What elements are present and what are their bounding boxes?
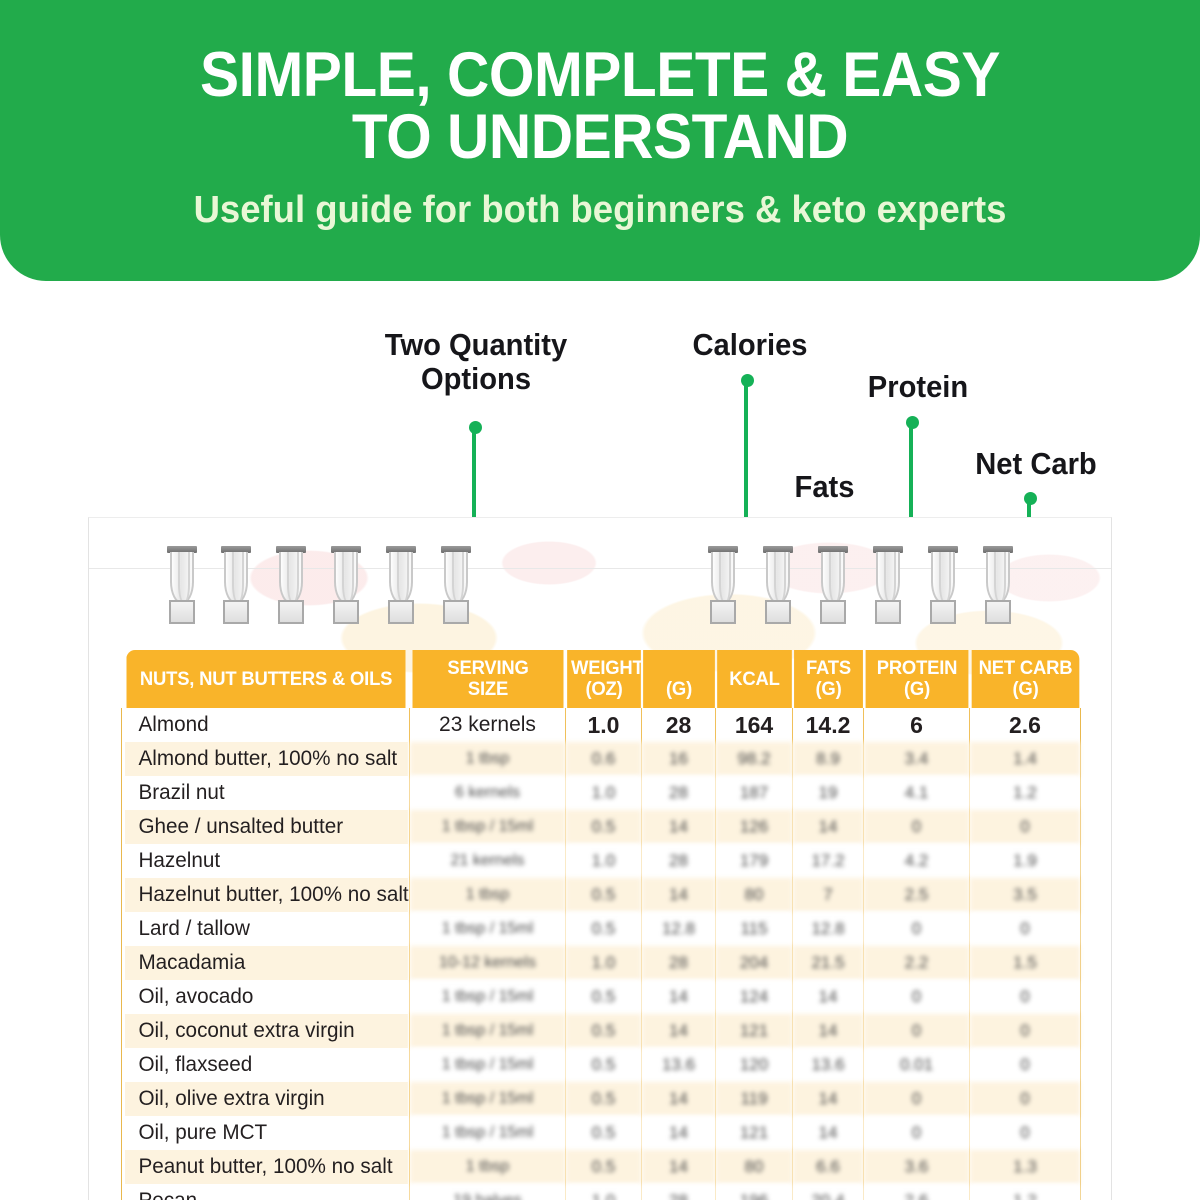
- cell-serving-size: 1 tbsp / 15ml: [410, 1116, 566, 1150]
- table-row[interactable]: Hazelnut butter, 100% no salt1 tbsp0.514…: [122, 878, 1081, 912]
- cell-protein: 0.01: [864, 1048, 970, 1082]
- cell-serving-size: 21 kernels: [410, 844, 566, 878]
- col-header-protein-line1: PROTEIN: [876, 658, 957, 679]
- spiral-ring: [221, 546, 251, 624]
- ring-foot: [930, 600, 956, 624]
- cell-kcal: 119: [716, 1082, 793, 1116]
- cell-protein: 0: [864, 980, 970, 1014]
- col-header-fats-line1: FATS: [806, 658, 851, 679]
- cell-serving-size: 1 tbsp: [410, 878, 566, 912]
- table-row[interactable]: Almond23 kernels1.02816414.262.6: [122, 708, 1081, 742]
- col-header-serving-size[interactable]: SERVING SIZE: [412, 650, 563, 708]
- notebook-paper-panel: NUTS, NUT BUTTERS & OILS SERVING SIZE WE…: [88, 517, 1112, 1200]
- table-row[interactable]: Almond butter, 100% no salt1 tbsp0.61698…: [122, 742, 1081, 776]
- cell-net-carb: 2.6: [970, 708, 1081, 742]
- table-row[interactable]: Oil, coconut extra virgin1 tbsp / 15ml0.…: [122, 1014, 1081, 1048]
- col-header-oz-unit: (OZ): [585, 679, 622, 700]
- table-body: Almond23 kernels1.02816414.262.6Almond b…: [122, 708, 1081, 1200]
- cell-serving-size: 1 tbsp: [410, 1150, 566, 1184]
- ring-wire-inner: [939, 552, 951, 604]
- col-header-weight-word: WEIGHT: [571, 658, 644, 679]
- table-row[interactable]: Oil, olive extra virgin1 tbsp / 15ml0.51…: [122, 1082, 1081, 1116]
- col-header-weight-g[interactable]: WEIGHT (G): [643, 650, 715, 708]
- cell-protein: 3.4: [864, 742, 970, 776]
- cell-serving-size: 1 tbsp / 15ml: [410, 810, 566, 844]
- col-header-fats[interactable]: FATS (G): [794, 650, 863, 708]
- cell-kcal: 98.2: [716, 742, 793, 776]
- cell-food-name: Lard / tallow: [124, 912, 408, 946]
- cell-fats: 14: [793, 1014, 864, 1048]
- cell-food-name: Oil, pure MCT: [124, 1116, 408, 1150]
- cell-net-carb: 0: [970, 1014, 1081, 1048]
- ring-wire-inner: [884, 552, 896, 604]
- cell-net-carb: 0: [970, 1116, 1081, 1150]
- table-head: NUTS, NUT BUTTERS & OILS SERVING SIZE WE…: [122, 650, 1081, 708]
- cell-kcal: 124: [716, 980, 793, 1014]
- cell-protein: 0: [864, 1116, 970, 1150]
- table-row[interactable]: Ghee / unsalted butter1 tbsp / 15ml0.514…: [122, 810, 1081, 844]
- col-header-carb-line1: NET CARB: [978, 658, 1072, 679]
- cell-food-name: Almond butter, 100% no salt: [124, 742, 408, 776]
- cell-protein: 2.2: [864, 946, 970, 980]
- cell-weight-oz: 1.0: [566, 776, 642, 810]
- cell-food-name: Brazil nut: [124, 776, 408, 810]
- table-row[interactable]: Oil, avocado1 tbsp / 15ml0.5141241400: [122, 980, 1081, 1014]
- cell-protein: 2.5: [864, 878, 970, 912]
- ring-foot: [278, 600, 304, 624]
- cell-fats: 19: [793, 776, 864, 810]
- cell-fats: 7: [793, 878, 864, 912]
- col-header-carb-line2: (G): [1012, 679, 1038, 700]
- cell-serving-size: 1 tbsp / 15ml: [410, 912, 566, 946]
- cell-serving-size: 1 tbsp: [410, 742, 566, 776]
- table-row[interactable]: Hazelnut21 kernels1.02817917.24.21.9: [122, 844, 1081, 878]
- ring-foot: [223, 600, 249, 624]
- cell-weight-g: 14: [642, 878, 716, 912]
- cell-net-carb: 0: [970, 810, 1081, 844]
- cell-weight-g: 14: [642, 810, 716, 844]
- cell-weight-g: 14: [642, 1116, 716, 1150]
- table-row[interactable]: Macadamia10-12 kernels1.02820421.52.21.5: [122, 946, 1081, 980]
- cell-kcal: 80: [716, 878, 793, 912]
- cell-protein: 4.2: [864, 844, 970, 878]
- cell-weight-g: 13.6: [642, 1048, 716, 1082]
- callout-label-fats: Fats: [761, 470, 888, 504]
- cell-kcal: 187: [716, 776, 793, 810]
- cell-net-carb: 1.5: [970, 946, 1081, 980]
- table-row[interactable]: Lard / tallow1 tbsp / 15ml0.512.811512.8…: [122, 912, 1081, 946]
- cell-net-carb: 0: [970, 1082, 1081, 1116]
- ring-wire-inner: [774, 552, 786, 604]
- cell-weight-g: 28: [642, 708, 716, 742]
- table-header-row: NUTS, NUT BUTTERS & OILS SERVING SIZE WE…: [122, 650, 1081, 708]
- col-header-protein[interactable]: PROTEIN (G): [865, 650, 968, 708]
- col-header-net-carb[interactable]: NET CARB (G): [971, 650, 1079, 708]
- table-row[interactable]: Brazil nut6 kernels1.028187194.11.2: [122, 776, 1081, 810]
- spiral-ring: [708, 546, 738, 624]
- cell-protein: 3.6: [864, 1150, 970, 1184]
- cell-fats: 6.6: [793, 1150, 864, 1184]
- ring-foot: [765, 600, 791, 624]
- cell-serving-size: 19 halves: [410, 1184, 566, 1200]
- cell-weight-g: 14: [642, 1150, 716, 1184]
- cell-protein: 2.6: [864, 1184, 970, 1200]
- cell-food-name: Pecan: [124, 1184, 408, 1200]
- cell-fats: 14.2: [793, 708, 864, 742]
- cell-kcal: 126: [716, 810, 793, 844]
- ring-foot: [875, 600, 901, 624]
- cell-kcal: 80: [716, 1150, 793, 1184]
- cell-net-carb: 0: [970, 912, 1081, 946]
- cell-food-name: Ghee / unsalted butter: [124, 810, 408, 844]
- cell-kcal: 121: [716, 1014, 793, 1048]
- ring-wire-inner: [452, 552, 464, 604]
- spiral-ring: [928, 546, 958, 624]
- cell-weight-g: 14: [642, 1082, 716, 1116]
- ring-wire-inner: [178, 552, 190, 604]
- cell-fats: 12.8: [793, 912, 864, 946]
- cell-protein: 4.1: [864, 776, 970, 810]
- cell-weight-oz: 0.5: [566, 1014, 642, 1048]
- col-header-g-unit: (G): [665, 679, 691, 700]
- cell-weight-oz: 0.5: [566, 912, 642, 946]
- spiral-ring: [873, 546, 903, 624]
- cell-fats: 21.5: [793, 946, 864, 980]
- cell-kcal: 204: [716, 946, 793, 980]
- cell-fats: 14: [793, 810, 864, 844]
- cell-food-name: Oil, coconut extra virgin: [124, 1014, 408, 1048]
- cell-weight-oz: 0.5: [566, 810, 642, 844]
- cell-kcal: 164: [716, 708, 793, 742]
- ring-wire-inner: [287, 552, 299, 604]
- cell-serving-size: 1 tbsp / 15ml: [410, 1014, 566, 1048]
- cell-weight-g: 12.8: [642, 912, 716, 946]
- cell-net-carb: 0: [970, 1048, 1081, 1082]
- ring-foot: [388, 600, 414, 624]
- spiral-ring: [386, 546, 416, 624]
- cell-fats: 20.4: [793, 1184, 864, 1200]
- spiral-ring: [441, 546, 471, 624]
- cell-protein: 0: [864, 1082, 970, 1116]
- col-header-serving-line2: SIZE: [467, 679, 507, 700]
- col-header-fats-line2: (G): [815, 679, 841, 700]
- spiral-ring: [331, 546, 361, 624]
- cell-serving-size: 6 kernels: [410, 776, 566, 810]
- callout-label-protein: Protein: [832, 370, 1003, 404]
- callout-label-net-carb: Net Carb: [942, 447, 1130, 481]
- ring-wire-inner: [397, 552, 409, 604]
- cell-food-name: Hazelnut: [124, 844, 408, 878]
- callout-label-two-quantity-options: Two Quantity Options: [344, 328, 607, 396]
- cell-net-carb: 1.9: [970, 844, 1081, 878]
- col-header-kcal[interactable]: KCAL: [717, 650, 792, 708]
- cell-serving-size: 1 tbsp / 15ml: [410, 1082, 566, 1116]
- cell-weight-oz: 0.5: [566, 1082, 642, 1116]
- cell-food-name: Macadamia: [124, 946, 408, 980]
- cell-fats: 8.9: [793, 742, 864, 776]
- ring-wire-inner: [829, 552, 841, 604]
- cell-weight-g: 28: [642, 946, 716, 980]
- cell-weight-oz: 0.5: [566, 878, 642, 912]
- cell-protein: 0: [864, 1014, 970, 1048]
- cell-food-name: Almond: [124, 708, 408, 742]
- spiral-ring: [983, 546, 1013, 624]
- ring-foot: [985, 600, 1011, 624]
- cell-weight-oz: 1.0: [566, 946, 642, 980]
- nutrition-table: NUTS, NUT BUTTERS & OILS SERVING SIZE WE…: [121, 650, 1081, 1200]
- spiral-ring: [818, 546, 848, 624]
- cell-net-carb: 1.2: [970, 776, 1081, 810]
- ring-foot: [443, 600, 469, 624]
- cell-food-name: Oil, avocado: [124, 980, 408, 1014]
- ring-foot: [169, 600, 195, 624]
- table-row[interactable]: Oil, flaxseed1 tbsp / 15ml0.513.612013.6…: [122, 1048, 1081, 1082]
- nutrition-table-container: NUTS, NUT BUTTERS & OILS SERVING SIZE WE…: [121, 650, 1080, 1200]
- cell-food-name: Oil, flaxseed: [124, 1048, 408, 1082]
- cell-fats: 17.2: [793, 844, 864, 878]
- cell-weight-g: 28: [642, 776, 716, 810]
- cell-serving-size: 1 tbsp / 15ml: [410, 1048, 566, 1082]
- cell-fats: 13.6: [793, 1048, 864, 1082]
- cell-net-carb: 0: [970, 980, 1081, 1014]
- cell-kcal: 196: [716, 1184, 793, 1200]
- cell-weight-oz: 0.6: [566, 742, 642, 776]
- table-row[interactable]: Peanut butter, 100% no salt1 tbsp0.51480…: [122, 1150, 1081, 1184]
- page-subtitle: Useful guide for both beginners & keto e…: [24, 190, 1176, 230]
- callout-label-calories: Calories: [656, 328, 844, 362]
- cell-kcal: 115: [716, 912, 793, 946]
- cell-weight-oz: 0.5: [566, 1048, 642, 1082]
- spiral-ring: [763, 546, 793, 624]
- cell-weight-g: 14: [642, 980, 716, 1014]
- ring-foot: [710, 600, 736, 624]
- cell-weight-g: 16: [642, 742, 716, 776]
- cell-serving-size: 1 tbsp / 15ml: [410, 980, 566, 1014]
- spiral-ring: [167, 546, 197, 624]
- cell-weight-oz: 1.0: [566, 1184, 642, 1200]
- ring-foot: [820, 600, 846, 624]
- ring-wire-inner: [719, 552, 731, 604]
- cell-weight-g: 28: [642, 1184, 716, 1200]
- cell-food-name: Peanut butter, 100% no salt: [124, 1150, 408, 1184]
- col-header-serving-line1: SERVING: [447, 658, 528, 679]
- col-header-weight-oz[interactable]: WEIGHT (OZ): [567, 650, 641, 708]
- cell-net-carb: 1.3: [970, 1150, 1081, 1184]
- cell-weight-g: 28: [642, 844, 716, 878]
- cell-weight-g: 14: [642, 1014, 716, 1048]
- ring-wire-inner: [342, 552, 354, 604]
- cell-weight-oz: 0.5: [566, 1150, 642, 1184]
- cell-weight-oz: 1.0: [566, 844, 642, 878]
- ring-wire-inner: [994, 552, 1006, 604]
- cell-food-name: Hazelnut butter, 100% no salt: [124, 878, 408, 912]
- cell-protein: 0: [864, 912, 970, 946]
- ring-foot: [333, 600, 359, 624]
- cell-fats: 14: [793, 1116, 864, 1150]
- cell-serving-size: 10-12 kernels: [410, 946, 566, 980]
- table-row[interactable]: Pecan19 halves1.02819620.42.61.2: [122, 1184, 1081, 1200]
- cell-fats: 14: [793, 980, 864, 1014]
- table-row[interactable]: Oil, pure MCT1 tbsp / 15ml0.5141211400: [122, 1116, 1081, 1150]
- cell-kcal: 121: [716, 1116, 793, 1150]
- cell-net-carb: 3.5: [970, 878, 1081, 912]
- cell-weight-oz: 0.5: [566, 1116, 642, 1150]
- cell-fats: 14: [793, 1082, 864, 1116]
- cell-weight-oz: 0.5: [566, 980, 642, 1014]
- cell-net-carb: 1.2: [970, 1184, 1081, 1200]
- cell-food-name: Oil, olive extra virgin: [124, 1082, 408, 1116]
- cell-kcal: 179: [716, 844, 793, 878]
- col-header-name[interactable]: NUTS, NUT BUTTERS & OILS: [126, 650, 405, 708]
- page-title: SIMPLE, COMPLETE & EASY TO UNDERSTAND: [42, 0, 1158, 168]
- cell-weight-oz: 1.0: [566, 708, 642, 742]
- ring-wire-inner: [232, 552, 244, 604]
- spiral-ring: [276, 546, 306, 624]
- cell-protein: 0: [864, 810, 970, 844]
- cell-net-carb: 1.4: [970, 742, 1081, 776]
- cell-kcal: 120: [716, 1048, 793, 1082]
- hero-banner: SIMPLE, COMPLETE & EASY TO UNDERSTAND Us…: [0, 0, 1200, 281]
- cell-protein: 6: [864, 708, 970, 742]
- col-header-protein-line2: (G): [903, 679, 929, 700]
- cell-serving-size: 23 kernels: [410, 708, 566, 742]
